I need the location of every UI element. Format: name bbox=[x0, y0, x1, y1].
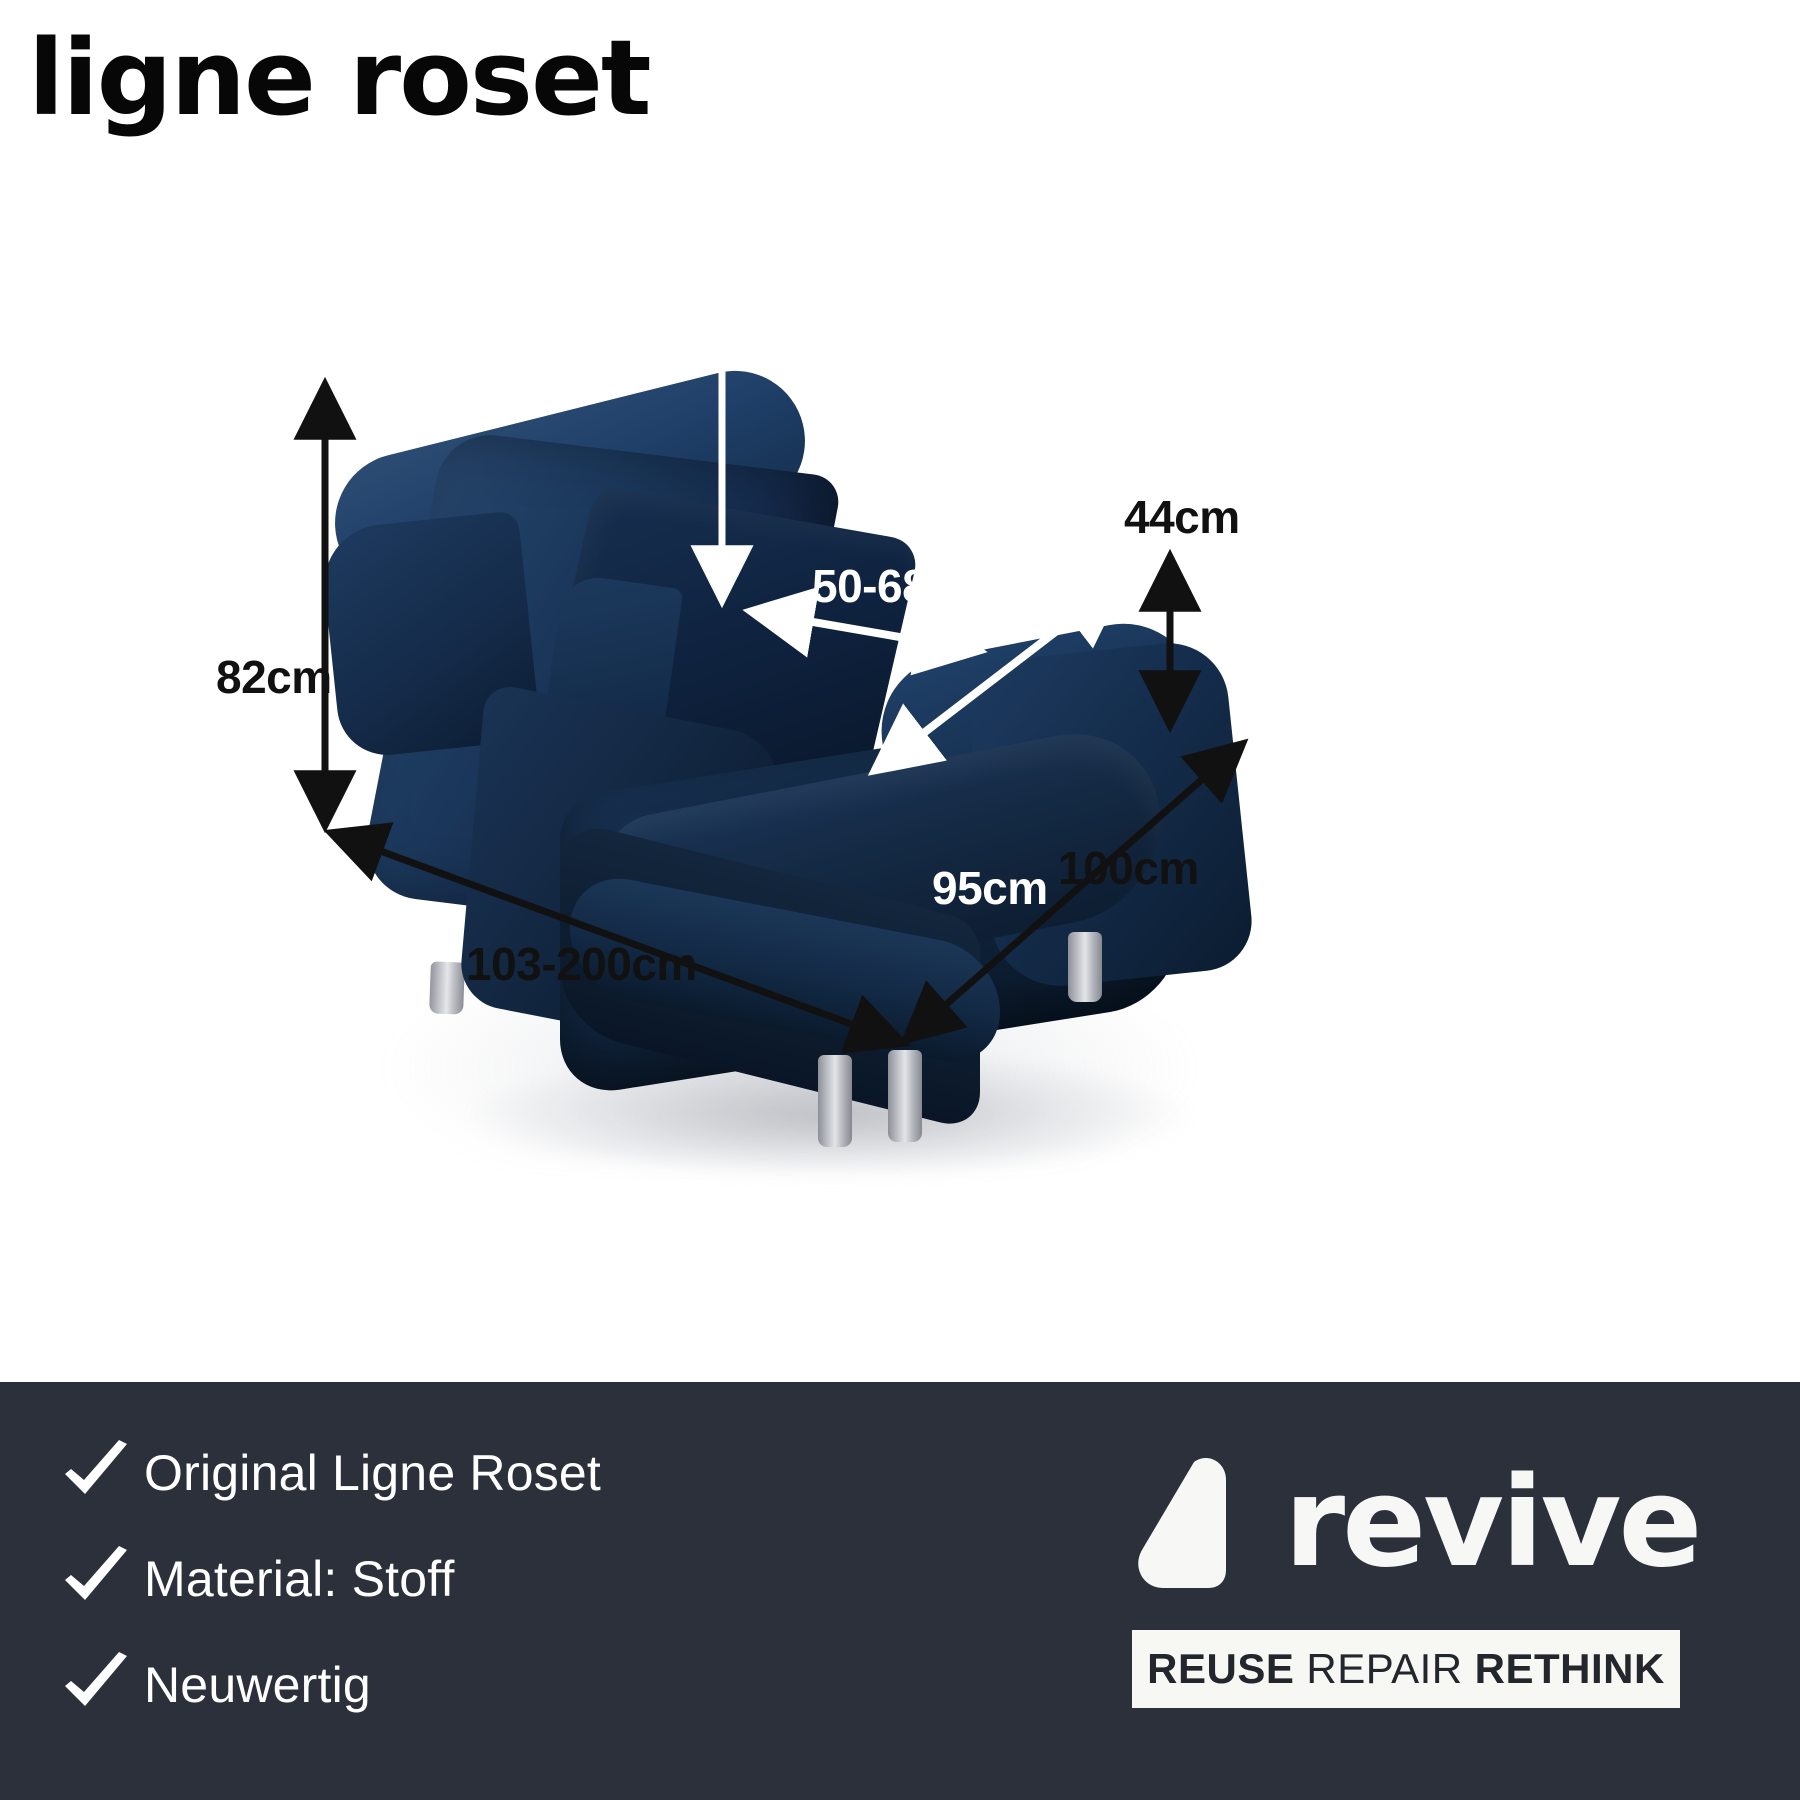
feature-label: Material: Stoff bbox=[144, 1550, 455, 1608]
arrow-seat-depth bbox=[755, 612, 975, 650]
dimension-label-backrest-height: 42cm bbox=[588, 324, 704, 378]
ligne-roset-logo: ligne roset bbox=[28, 26, 650, 130]
tagline-word-rethink: RETHINK bbox=[1475, 1645, 1665, 1693]
feature-item: Original Ligne Roset bbox=[48, 1420, 601, 1526]
feature-label: Neuwertig bbox=[144, 1656, 371, 1714]
check-icon bbox=[48, 1542, 144, 1616]
feature-label: Original Ligne Roset bbox=[144, 1444, 601, 1502]
dimension-label-seat-depth: 50-68cm bbox=[812, 559, 993, 613]
dimension-label-total-height: 82cm bbox=[216, 650, 332, 704]
product-photo: 42cm 50-68cm 95cm 44cm 82cm 103-200cm 10… bbox=[0, 150, 1800, 1380]
feature-item: Neuwertig bbox=[48, 1632, 601, 1738]
revive-wordmark: revive bbox=[1284, 1461, 1700, 1585]
revive-tagline: REUSE REPAIR RETHINK bbox=[1132, 1630, 1680, 1708]
dimension-label-total-depth: 95cm bbox=[932, 861, 1048, 915]
dimension-label-depth: 100cm bbox=[1058, 841, 1199, 895]
feature-list: Original Ligne Roset Material: Stoff Neu… bbox=[48, 1420, 601, 1738]
check-icon bbox=[48, 1648, 144, 1722]
dimension-label-seat-height: 44cm bbox=[1124, 490, 1240, 544]
product-listing-image: ligne roset bbox=[0, 0, 1800, 1800]
revive-branding: revive REUSE REPAIR RETHINK bbox=[1080, 1438, 1740, 1708]
revive-logo-row: revive bbox=[1080, 1438, 1740, 1608]
tagline-word-repair: REPAIR bbox=[1306, 1645, 1462, 1693]
footer-bar: Original Ligne Roset Material: Stoff Neu… bbox=[0, 1382, 1800, 1800]
tagline-word-reuse: REUSE bbox=[1147, 1645, 1294, 1693]
check-icon bbox=[48, 1436, 144, 1510]
revive-leaf-icon bbox=[1108, 1446, 1258, 1601]
dimension-label-width: 103-200cm bbox=[466, 937, 697, 991]
feature-item: Material: Stoff bbox=[48, 1526, 601, 1632]
dimension-arrows bbox=[0, 150, 1800, 1380]
